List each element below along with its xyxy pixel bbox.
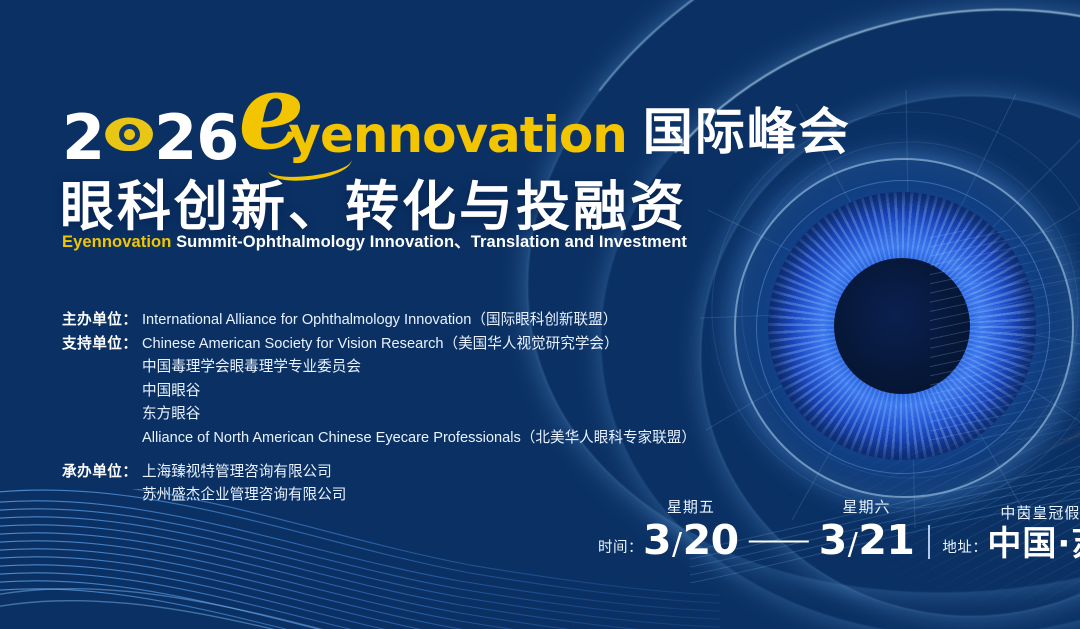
- end-date: 3/21: [819, 520, 915, 561]
- organizer-value: 上海臻视特管理咨询有限公司: [142, 465, 346, 480]
- year-prefix: 2: [62, 109, 104, 166]
- organizer-values: Chinese American Society for Vision Rese…: [142, 337, 696, 446]
- subtitle-brand: Eyennovation: [62, 233, 171, 251]
- eye-light-rays: [930, 230, 1080, 440]
- organizer-label: 主办单位：: [62, 313, 142, 328]
- subtitle-rest: Summit-Ophthalmology Innovation、Translat…: [171, 233, 687, 251]
- end-day: 21: [858, 516, 914, 564]
- end-date-block: 星期六 3/21: [819, 496, 915, 561]
- date-slash: /: [671, 527, 683, 562]
- start-month: 3: [643, 516, 671, 564]
- organizer-values: 上海臻视特管理咨询有限公司 苏州盛杰企业管理咨询有限公司: [142, 465, 346, 503]
- subtitle-english: Eyennovation Summit-Ophthalmology Innova…: [62, 228, 687, 252]
- organizer-colon: ：: [122, 336, 137, 352]
- organizer-label-text: 主办单位: [62, 312, 122, 328]
- organizer-label: 承办单位：: [62, 465, 142, 480]
- iris-warm-highlight: [865, 178, 1080, 475]
- start-weekday: 星期五: [667, 496, 715, 517]
- bar-divider: [928, 525, 930, 559]
- organizer-colon: ：: [122, 464, 137, 480]
- organizer-label-text: 承办单位: [62, 464, 122, 480]
- brand-script-e: e: [238, 60, 304, 164]
- organizer-label: 支持单位：: [62, 337, 142, 352]
- start-date: 3/20: [643, 520, 739, 561]
- organizer-row-host: 主办单位： International Alliance for Ophthal…: [62, 313, 696, 328]
- iris-pupil: [834, 258, 970, 394]
- organizer-value: 东方眼谷: [142, 407, 696, 422]
- venue-block: 中茵皇冠假日酒店 中国·苏州: [987, 502, 1080, 561]
- organizer-value: Chinese American Society for Vision Rese…: [142, 337, 696, 352]
- conference-poster: 2 26 e yennovation 国际峰会 眼科创新、转化与投融资 Eyen…: [0, 0, 1080, 629]
- title-line-1: 2 26 e yennovation 国际峰会: [62, 92, 851, 166]
- organizer-label-text: 支持单位: [62, 336, 122, 352]
- eye-pupil: [124, 129, 135, 140]
- start-day: 20: [683, 516, 739, 564]
- date-slash: /: [847, 527, 859, 562]
- end-month: 3: [819, 516, 847, 564]
- organizer-value: 中国眼谷: [142, 384, 696, 399]
- venue-name: 中茵皇冠假日酒店: [1000, 502, 1080, 523]
- brand-wordmark: e yennovation: [246, 106, 626, 166]
- organizer-value: International Alliance for Ophthalmology…: [142, 313, 617, 328]
- eye-icon: [105, 117, 153, 151]
- iris-mid-ring: [756, 180, 1050, 474]
- organizer-row-support: 支持单位： Chinese American Society for Visio…: [62, 337, 696, 446]
- start-date-block: 星期五 3/20: [643, 496, 739, 561]
- date-range-dash: ——: [739, 525, 819, 561]
- organizer-value: Alliance of North American Chinese Eyeca…: [142, 431, 696, 446]
- end-weekday: 星期六: [843, 496, 891, 517]
- year-suffix: 26: [154, 109, 238, 166]
- iris-outer-ring: [734, 158, 1074, 498]
- venue-city: 中国·苏州: [987, 527, 1080, 561]
- organizer-info-block: 主办单位： International Alliance for Ophthal…: [62, 313, 696, 512]
- organizer-value: 苏州盛杰企业管理咨询有限公司: [142, 488, 346, 503]
- year-logo: 2 26: [62, 109, 238, 166]
- iris-striations: [768, 192, 1036, 460]
- organizer-colon: ：: [122, 312, 137, 328]
- organizer-values: International Alliance for Ophthalmology…: [142, 313, 617, 328]
- summit-chinese-title: 国际峰会: [643, 92, 851, 166]
- iris-eye-graphic-icon: [768, 192, 1036, 460]
- organizer-value: 中国毒理学会眼毒理学专业委员会: [142, 360, 696, 375]
- address-label: 地址：: [942, 536, 987, 561]
- date-venue-bar: 时间： 星期五 3/20 —— 星期六 3/21 地址： 中茵皇冠假日酒店 中国…: [598, 496, 1080, 561]
- time-label: 时间：: [598, 536, 643, 561]
